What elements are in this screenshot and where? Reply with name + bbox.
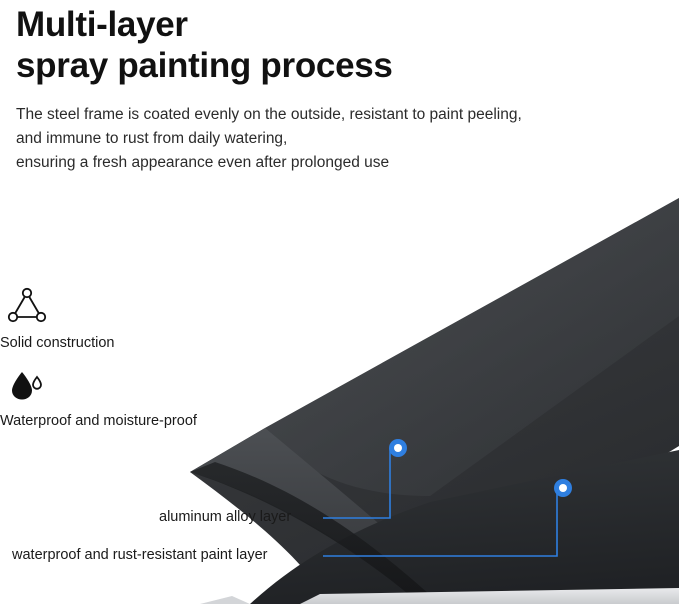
triangle-nodes-icon [6,286,300,331]
header-text-block: Multi-layer spray painting process The s… [16,0,656,175]
product-illustration: Solid construction Waterproof and moistu… [0,196,679,604]
water-drop-icon [6,364,300,409]
page-title: Multi-layer spray painting process [16,0,656,87]
page-subtitle: The steel frame is coated evenly on the … [16,87,656,175]
feature-waterproof: Waterproof and moisture-proof [0,364,300,429]
callout-label-paint-layer: waterproof and rust-resistant paint laye… [12,547,268,563]
callout-label-aluminum-alloy-layer: aluminum alloy layer [159,509,291,525]
callout-dot-marker-0-inner [394,444,402,452]
feature-label-0: Solid construction [0,335,300,351]
callout-dot-marker-1-inner [559,484,567,492]
feature-label-1: Waterproof and moisture-proof [0,413,300,429]
feature-solid-construction: Solid construction [0,286,300,351]
panel-base-sliver [200,596,250,604]
